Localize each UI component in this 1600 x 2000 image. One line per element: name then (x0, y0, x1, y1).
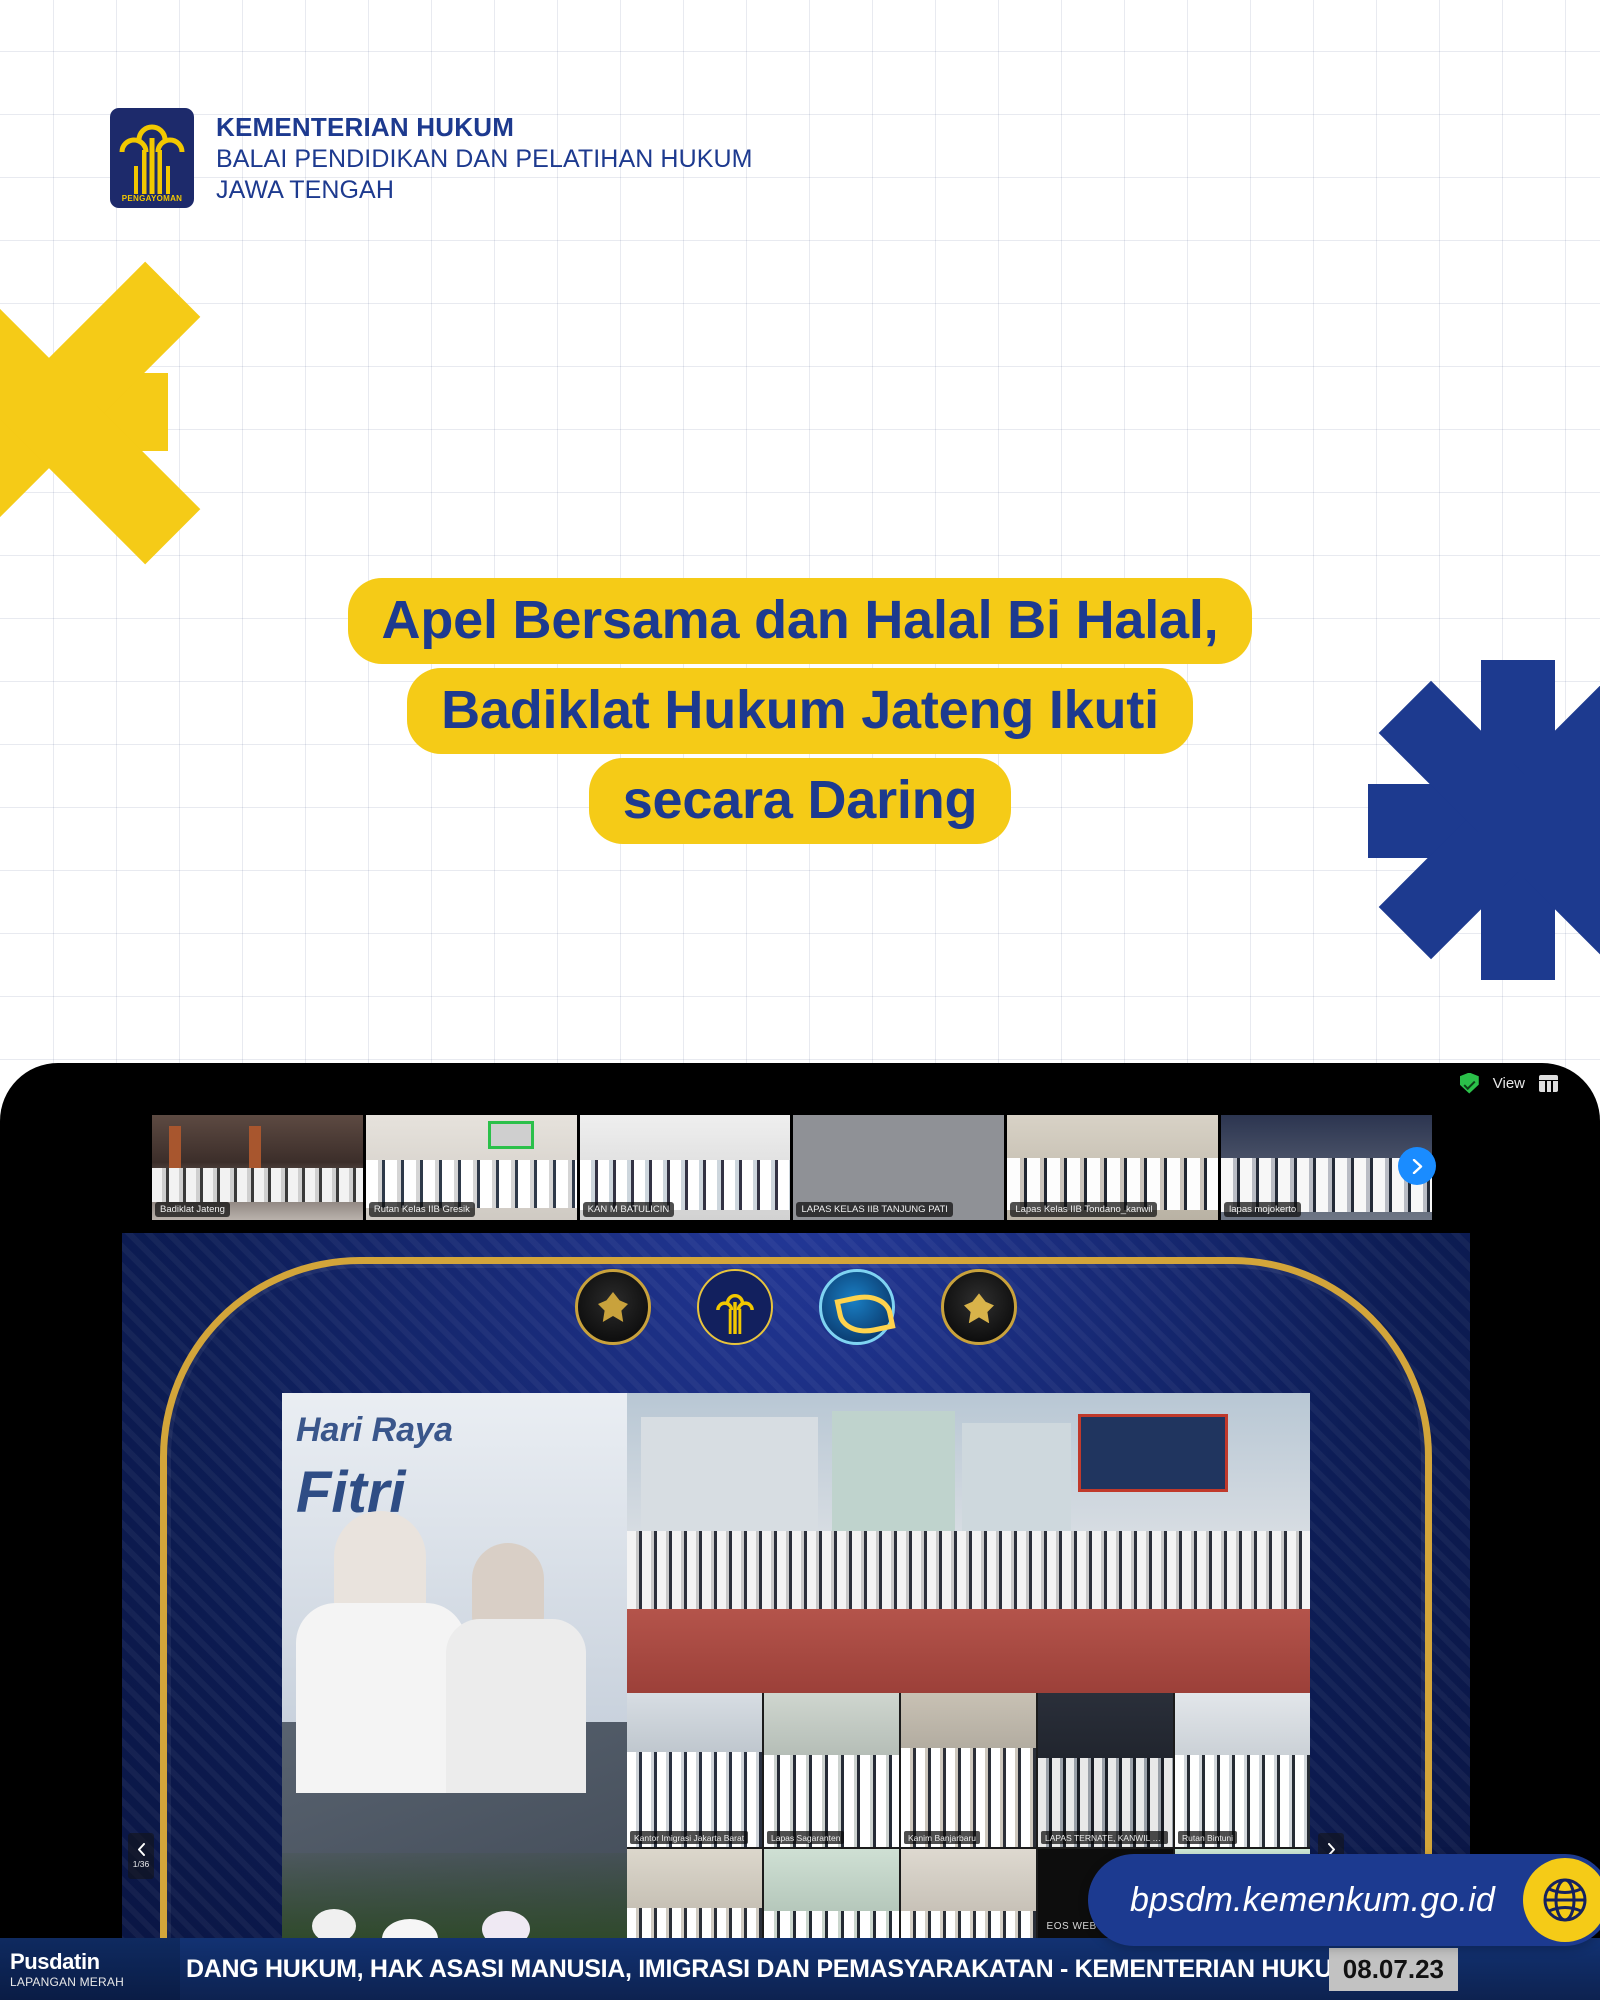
filmstrip-next-button[interactable] (1398, 1147, 1436, 1185)
field-ground (627, 1609, 1310, 1693)
participant-tile[interactable]: Kanim Banjarbaru (901, 1693, 1036, 1847)
thumb-label: lapas mojokerto (1224, 1202, 1301, 1217)
parade-field-video-cell[interactable] (627, 1393, 1310, 1693)
building (641, 1417, 819, 1531)
speaker-video-cell[interactable]: Hari Raya Fitri (282, 1393, 627, 2000)
filmstrip-thumb[interactable]: Lapas Kelas IIB Tondano_kanwil (1007, 1115, 1218, 1220)
headline-text-2: Badiklat Hukum Jateng Ikuti (407, 668, 1193, 754)
organization-name: KEMENTERIAN HUKUM (216, 112, 753, 144)
led-billboard (1078, 1414, 1228, 1492)
tile-label: Rutan Bintuni (1178, 1831, 1237, 1844)
imigrasi-pemasyarakatan-emblem (941, 1269, 1017, 1345)
participant-tile[interactable]: Rutan Bintuni (1175, 1693, 1310, 1847)
headline-line-2: Badiklat Hukum Jateng Ikuti (0, 668, 1600, 754)
website-url-text: bpsdm.kemenkum.go.id (1130, 1881, 1495, 1920)
headline-line-1: Apel Bersama dan Halal Bi Halal, (0, 578, 1600, 664)
building (832, 1411, 955, 1531)
pengayoman-banyan-tree-icon (711, 1285, 759, 1335)
globe-glyph (1540, 1875, 1590, 1925)
ticker-headline: DANG HUKUM, HAK ASASI MANUSIA, IMIGRASI … (180, 1955, 1329, 1984)
chevron-right-icon (1411, 1159, 1424, 1174)
lapangan-merah-label: LAPANGAN MERAH (10, 1975, 180, 1989)
website-url-badge[interactable]: bpsdm.kemenkum.go.id (1088, 1854, 1600, 1946)
broadcast-ticker: Pusdatin LAPANGAN MERAH DANG HUKUM, HAK … (0, 1938, 1600, 2000)
participant-filmstrip[interactable]: Badiklat Jateng Rutan Kelas IIB Gresik K… (152, 1115, 1432, 1220)
headline-line-3: secara Daring (0, 758, 1600, 844)
headline-text-3: secara Daring (589, 758, 1012, 844)
crowd-rows (627, 1531, 1310, 1609)
headline-text-1: Apel Bersama dan Halal Bi Halal, (348, 578, 1253, 664)
pengayoman-banyan-tree-icon (110, 110, 194, 194)
tile-label: Kantor Imigrasi Jakarta Barat (630, 1831, 748, 1844)
brand-header: PENGAYOMAN KEMENTERIAN HUKUM BALAI PENDI… (110, 108, 753, 208)
pager-count: 1/36 (133, 1859, 150, 1869)
chevron-left-icon (136, 1843, 147, 1856)
participant-tile[interactable]: Kantor Imigrasi Jakarta Barat (627, 1693, 762, 1847)
ditjen-ahu-emblem (819, 1269, 895, 1345)
thumb-label: Rutan Kelas IIB Gresik (369, 1202, 475, 1217)
participant-tile[interactable]: LAPAS TERNATE, KANWIL MALUT (1038, 1693, 1173, 1847)
thumb-label: LAPAS KELAS IIB TANJUNG PATI (796, 1202, 952, 1217)
pusdatin-label: Pusdatin (10, 1949, 180, 1975)
tile-label: Lapas Sagaranten (767, 1831, 844, 1844)
filmstrip-thumb[interactable]: LAPAS KELAS IIB TANJUNG PATI (793, 1115, 1004, 1220)
filmstrip-thumb[interactable]: KAN M BATULICIN (580, 1115, 791, 1220)
thumb-label: Badiklat Jateng (155, 1202, 230, 1217)
tiles-prev-button[interactable]: 1/36 (128, 1833, 154, 1879)
banner-text-line1: Hari Raya (296, 1411, 453, 1450)
emblem-row (122, 1269, 1470, 1345)
garuda-emblem (575, 1269, 651, 1345)
globe-icon (1523, 1858, 1600, 1942)
grid-layout-icon[interactable] (1539, 1075, 1558, 1092)
speaker-body (296, 1603, 466, 1793)
brand-text-block: KEMENTERIAN HUKUM BALAI PENDIDIKAN DAN P… (216, 108, 753, 206)
organization-unit-line2: JAWA TENGAH (216, 175, 753, 206)
thumb-label: KAN M BATULICIN (583, 1202, 675, 1217)
organization-unit-line1: BALAI PENDIDIKAN DAN PELATIHAN HUKUM (216, 144, 753, 175)
conference-topbar: View (0, 1063, 1600, 1103)
asterisk-left-icon (0, 238, 208, 588)
poster-canvas: PENGAYOMAN KEMENTERIAN HUKUM BALAI PENDI… (0, 0, 1600, 2000)
pengayoman-emblem (697, 1269, 773, 1345)
logo-caption: PENGAYOMAN (110, 194, 194, 203)
page-title: Apel Bersama dan Halal Bi Halal, Badikla… (0, 578, 1600, 848)
tile-label: LAPAS TERNATE, KANWIL MALUT (1041, 1831, 1168, 1844)
speaker2-body (446, 1619, 586, 1793)
ticker-timestamp: 08.07.23 (1329, 1948, 1458, 1991)
tile-label: Kanim Banjarbaru (904, 1831, 980, 1844)
thumb-label: Lapas Kelas IIB Tondano_kanwil (1010, 1202, 1157, 1217)
pusdatin-logo: Pusdatin LAPANGAN MERAH (0, 1938, 180, 2000)
filmstrip-thumb[interactable]: Rutan Kelas IIB Gresik (366, 1115, 577, 1220)
green-shield-icon (1460, 1073, 1479, 1094)
view-label[interactable]: View (1493, 1075, 1525, 1092)
pengayoman-logo: PENGAYOMAN (110, 108, 194, 208)
speaker2-head (472, 1543, 544, 1629)
participant-tile[interactable]: Lapas Sagaranten (764, 1693, 899, 1847)
filmstrip-thumb[interactable]: Badiklat Jateng (152, 1115, 363, 1220)
building (962, 1423, 1071, 1531)
